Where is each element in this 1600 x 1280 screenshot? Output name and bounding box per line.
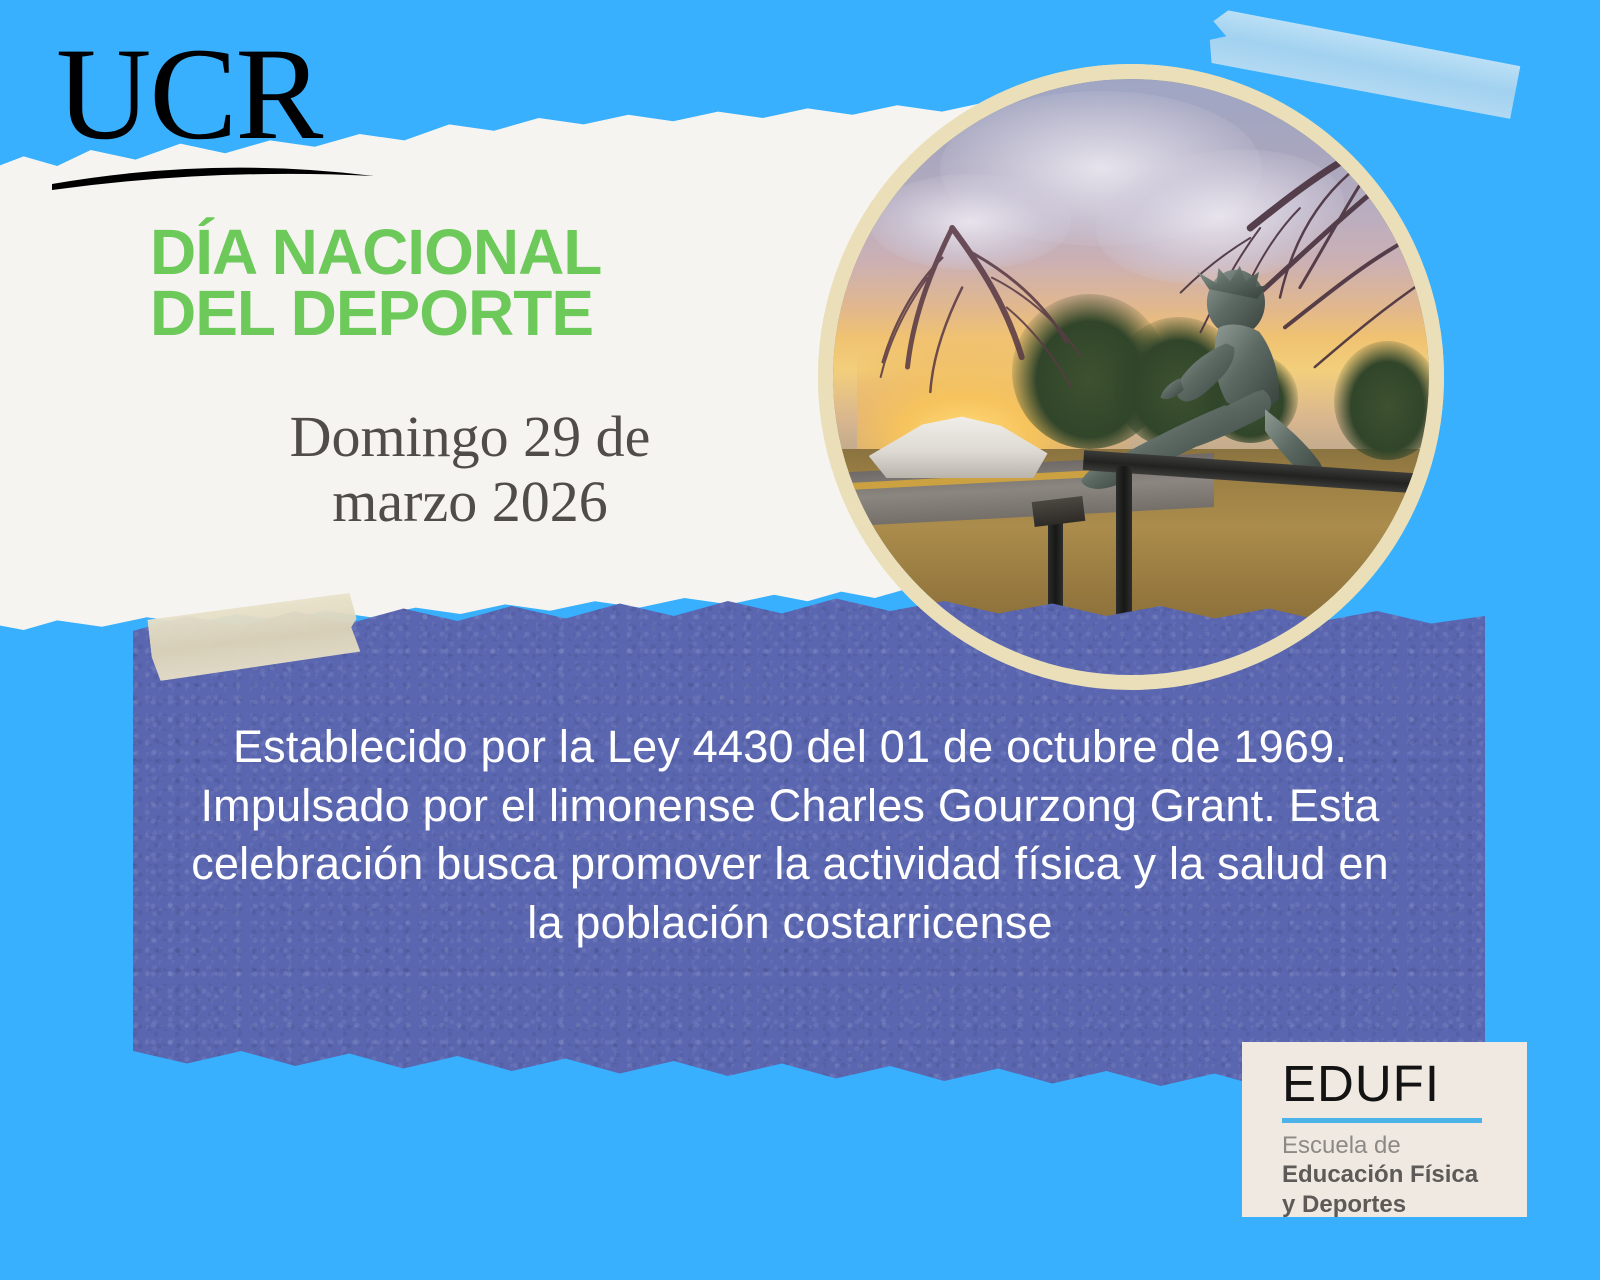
headline-line-2: DEL DEPORTE xyxy=(150,283,790,344)
poster-canvas: UCR DÍA NACIONAL DEL DEPORTE Domingo 29 … xyxy=(0,0,1600,1280)
edufi-subtitle-1: Escuela de xyxy=(1282,1131,1527,1160)
event-date-line-2: marzo 2026 xyxy=(160,470,780,535)
edufi-logo-card: EDUFI Escuela de Educación Física y Depo… xyxy=(1242,1042,1527,1217)
event-date: Domingo 29 de marzo 2026 xyxy=(160,405,780,535)
photo-image xyxy=(833,79,1429,675)
edufi-divider xyxy=(1282,1118,1482,1123)
edufi-title: EDUFI xyxy=(1282,1058,1527,1109)
event-date-line-1: Domingo 29 de xyxy=(160,405,780,470)
body-paragraph: Establecido por la Ley 4430 del 01 de oc… xyxy=(175,718,1405,952)
ucr-arc-icon xyxy=(48,150,378,190)
ucr-logo-text: UCR xyxy=(56,28,386,160)
edufi-subtitle-2: Educación Física y Deportes xyxy=(1282,1160,1497,1219)
ucr-logo: UCR xyxy=(56,28,386,193)
circular-photo xyxy=(818,64,1444,690)
hurdle-post xyxy=(1116,466,1131,633)
page-title: DÍA NACIONAL DEL DEPORTE xyxy=(150,222,790,345)
